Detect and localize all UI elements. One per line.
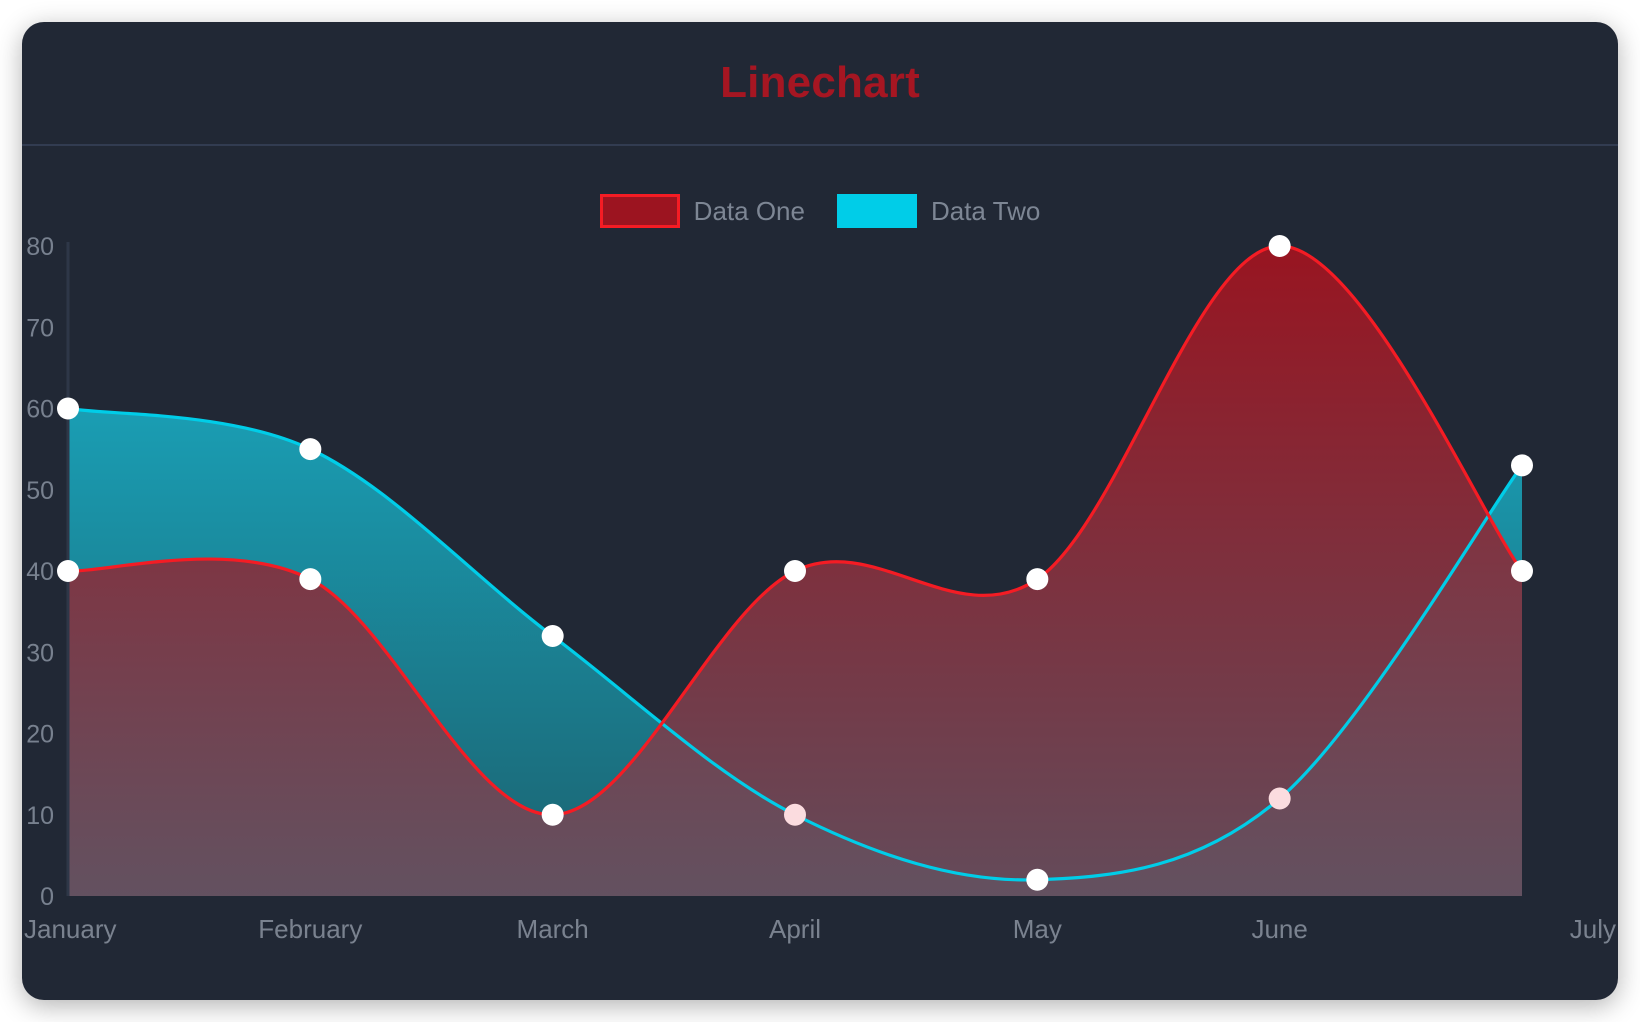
data-point[interactable] xyxy=(1026,568,1048,590)
chart-plot-area[interactable]: 80706050403020100 JanuaryFebruaryMarchAp… xyxy=(22,22,1618,1000)
y-axis-tick-label: 40 xyxy=(26,558,54,586)
x-axis-tick-label: January xyxy=(24,914,117,944)
y-axis-tick-label: 70 xyxy=(26,314,54,342)
data-point[interactable] xyxy=(542,804,564,826)
linechart-card: Linechart Data One Data Two xyxy=(22,22,1618,1000)
data-point[interactable] xyxy=(1511,454,1533,476)
linechart-svg[interactable]: 80706050403020100 JanuaryFebruaryMarchAp… xyxy=(22,22,1618,1000)
data-point[interactable] xyxy=(299,568,321,590)
y-axis-tick-label: 20 xyxy=(26,721,54,749)
data-point[interactable] xyxy=(57,560,79,582)
data-point[interactable] xyxy=(1269,235,1291,257)
x-axis-tick-label: February xyxy=(258,914,362,944)
y-axis-tick-label: 80 xyxy=(26,233,54,261)
data-point[interactable] xyxy=(299,438,321,460)
data-point[interactable] xyxy=(57,398,79,420)
y-axis-tick-label: 60 xyxy=(26,396,54,424)
data-point[interactable] xyxy=(1026,869,1048,891)
data-point[interactable] xyxy=(784,804,806,826)
x-axis-tick-label: March xyxy=(517,914,589,944)
data-point[interactable] xyxy=(1511,560,1533,582)
y-axis-tick-label: 0 xyxy=(40,883,54,911)
y-axis-tick-label: 50 xyxy=(26,477,54,505)
data-point[interactable] xyxy=(542,625,564,647)
x-axis-tick-label: May xyxy=(1013,914,1062,944)
x-axis-ticks: JanuaryFebruaryMarchAprilMayJuneJuly xyxy=(24,914,1616,944)
y-axis-tick-label: 10 xyxy=(26,802,54,830)
x-axis-tick-label: June xyxy=(1251,914,1307,944)
x-axis-tick-label: July xyxy=(1570,914,1616,944)
screen-root: Linechart Data One Data Two xyxy=(0,0,1640,1022)
data-point[interactable] xyxy=(784,560,806,582)
y-axis-ticks: 80706050403020100 xyxy=(26,233,54,911)
y-axis-tick-label: 30 xyxy=(26,639,54,667)
x-axis-tick-label: April xyxy=(769,914,821,944)
data-point[interactable] xyxy=(1269,788,1291,810)
